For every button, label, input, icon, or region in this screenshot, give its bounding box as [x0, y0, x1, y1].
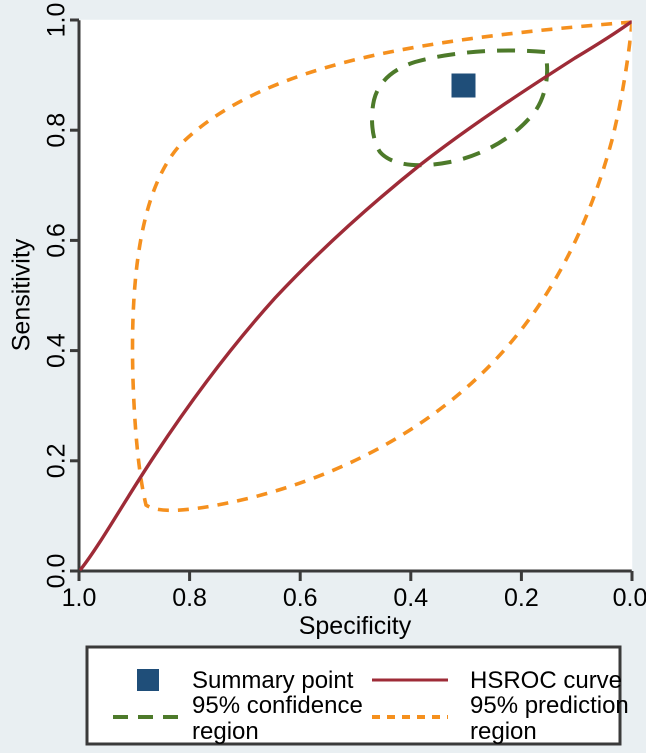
x-axis-title: Specificity [299, 612, 412, 640]
x-tick-label-2: 0.6 [283, 584, 318, 612]
y-tick-label-1: 0.2 [43, 443, 71, 478]
x-tick-label-5: 0.0 [613, 584, 646, 612]
legend-label-prediction-region-line1: 95% prediction [470, 692, 629, 719]
x-tick-label-4: 0.2 [504, 584, 539, 612]
x-tick-label-1: 0.8 [172, 584, 207, 612]
legend-label-hsroc-curve: HSROC curve [470, 667, 622, 694]
x-tick-label-3: 0.4 [393, 584, 428, 612]
hsroc-figure: 0.0 0.2 0.4 0.6 0.8 1.0 Sensitivity 1.0 … [0, 0, 646, 753]
legend-label-summary-point: Summary point [192, 667, 354, 694]
x-tick-label-0: 1.0 [62, 584, 97, 612]
y-tick-label-2: 0.4 [43, 333, 71, 368]
legend-label-prediction-region-line2: region [470, 718, 537, 745]
y-axis-title: Sensitivity [8, 238, 36, 351]
y-tick-label-4: 0.8 [43, 113, 71, 148]
y-tick-label-3: 0.6 [43, 223, 71, 258]
legend-marker-summary-point-icon [137, 669, 159, 691]
y-tick-label-5: 1.0 [43, 3, 71, 38]
legend: Summary point HSROC curve 95% confidence… [87, 647, 629, 745]
legend-label-confidence-region-line2: region [192, 718, 259, 745]
hsroc-chart-svg: 0.0 0.2 0.4 0.6 0.8 1.0 Sensitivity 1.0 … [0, 0, 646, 753]
plot-area-background [79, 20, 632, 571]
summary-point-marker [452, 74, 475, 97]
legend-label-confidence-region-line1: 95% confidence [192, 692, 363, 719]
